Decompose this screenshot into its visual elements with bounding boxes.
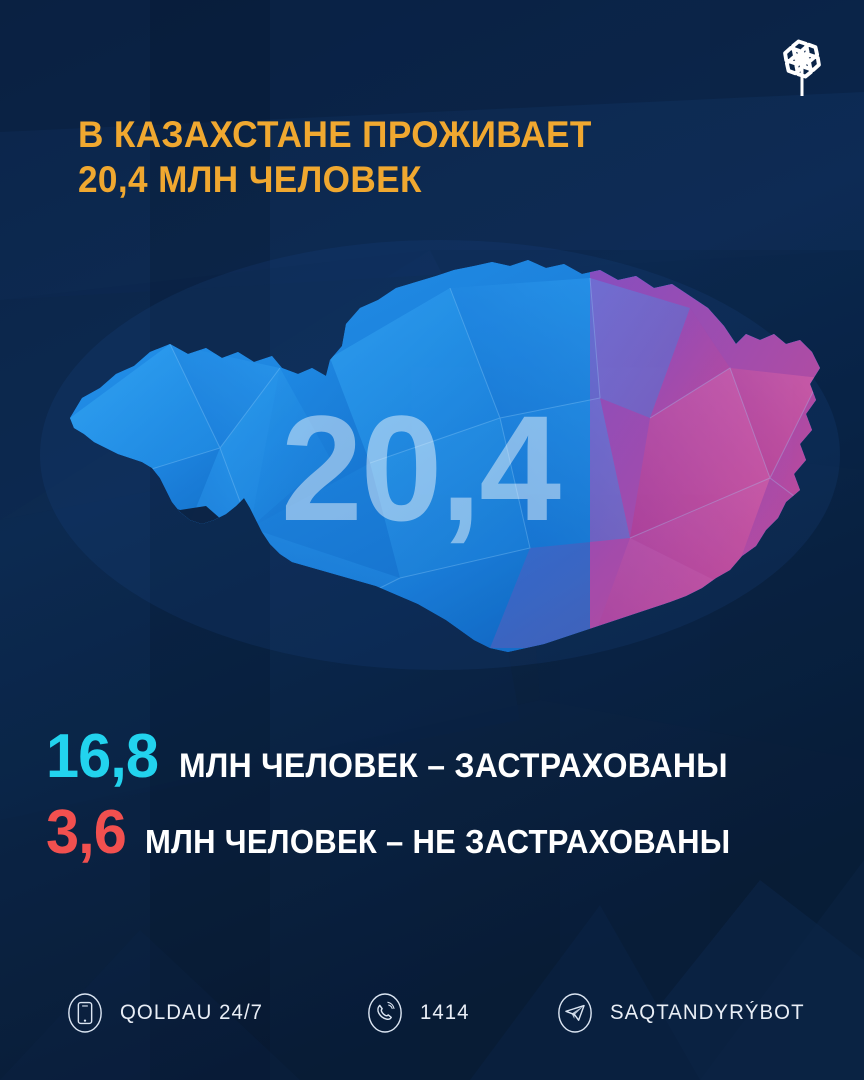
stat-value-uninsured: 3,6	[46, 802, 126, 864]
headline: В КАЗАХСТАНЕ ПРОЖИВАЕТ 20,4 МЛН ЧЕЛОВЕК	[78, 112, 743, 202]
headline-line-2: 20,4 МЛН ЧЕЛОВЕК	[78, 157, 743, 202]
stat-label-uninsured: МЛН ЧЕЛОВЕК – НЕ ЗАСТРАХОВАНЫ	[145, 823, 730, 861]
contact-qoldau[interactable]: QOLDAU 24/7	[66, 992, 366, 1034]
headline-line-1: В КАЗАХСТАНЕ ПРОЖИВАЕТ	[78, 114, 592, 155]
stat-row-uninsured: 3,6 МЛН ЧЕЛОВЕК – НЕ ЗАСТРАХОВАНЫ	[46, 802, 846, 864]
phone-call-icon	[366, 992, 404, 1034]
snowflake-logo-icon	[768, 22, 836, 96]
stat-value-insured: 16,8	[46, 726, 158, 788]
telegram-plane-icon	[556, 992, 594, 1034]
contact-telegram-bot[interactable]: SAQTANDYRÝBOT	[556, 992, 811, 1034]
contact-1414[interactable]: 1414	[366, 992, 556, 1034]
contact-qoldau-text: QOLDAU 24/7	[120, 1001, 263, 1025]
footer-contacts: QOLDAU 24/7 1414 SAQTANDYRÝBOT	[0, 992, 864, 1034]
contact-telegram-bot-text: SAQTANDYRÝBOT	[610, 1001, 805, 1025]
stat-row-insured: 16,8 МЛН ЧЕЛОВЕК – ЗАСТРАХОВАНЫ	[46, 726, 846, 788]
kazakhstan-map: 20,4	[30, 248, 834, 668]
kazakhstan-map-svg	[30, 248, 834, 668]
statistics-block: 16,8 МЛН ЧЕЛОВЕК – ЗАСТРАХОВАНЫ 3,6 МЛН …	[46, 726, 846, 878]
contact-1414-text: 1414	[420, 1001, 470, 1025]
smartphone-icon	[66, 992, 104, 1034]
infographic-poster: В КАЗАХСТАНЕ ПРОЖИВАЕТ 20,4 МЛН ЧЕЛОВЕК	[0, 0, 864, 1080]
stat-label-insured: МЛН ЧЕЛОВЕК – ЗАСТРАХОВАНЫ	[179, 747, 728, 786]
